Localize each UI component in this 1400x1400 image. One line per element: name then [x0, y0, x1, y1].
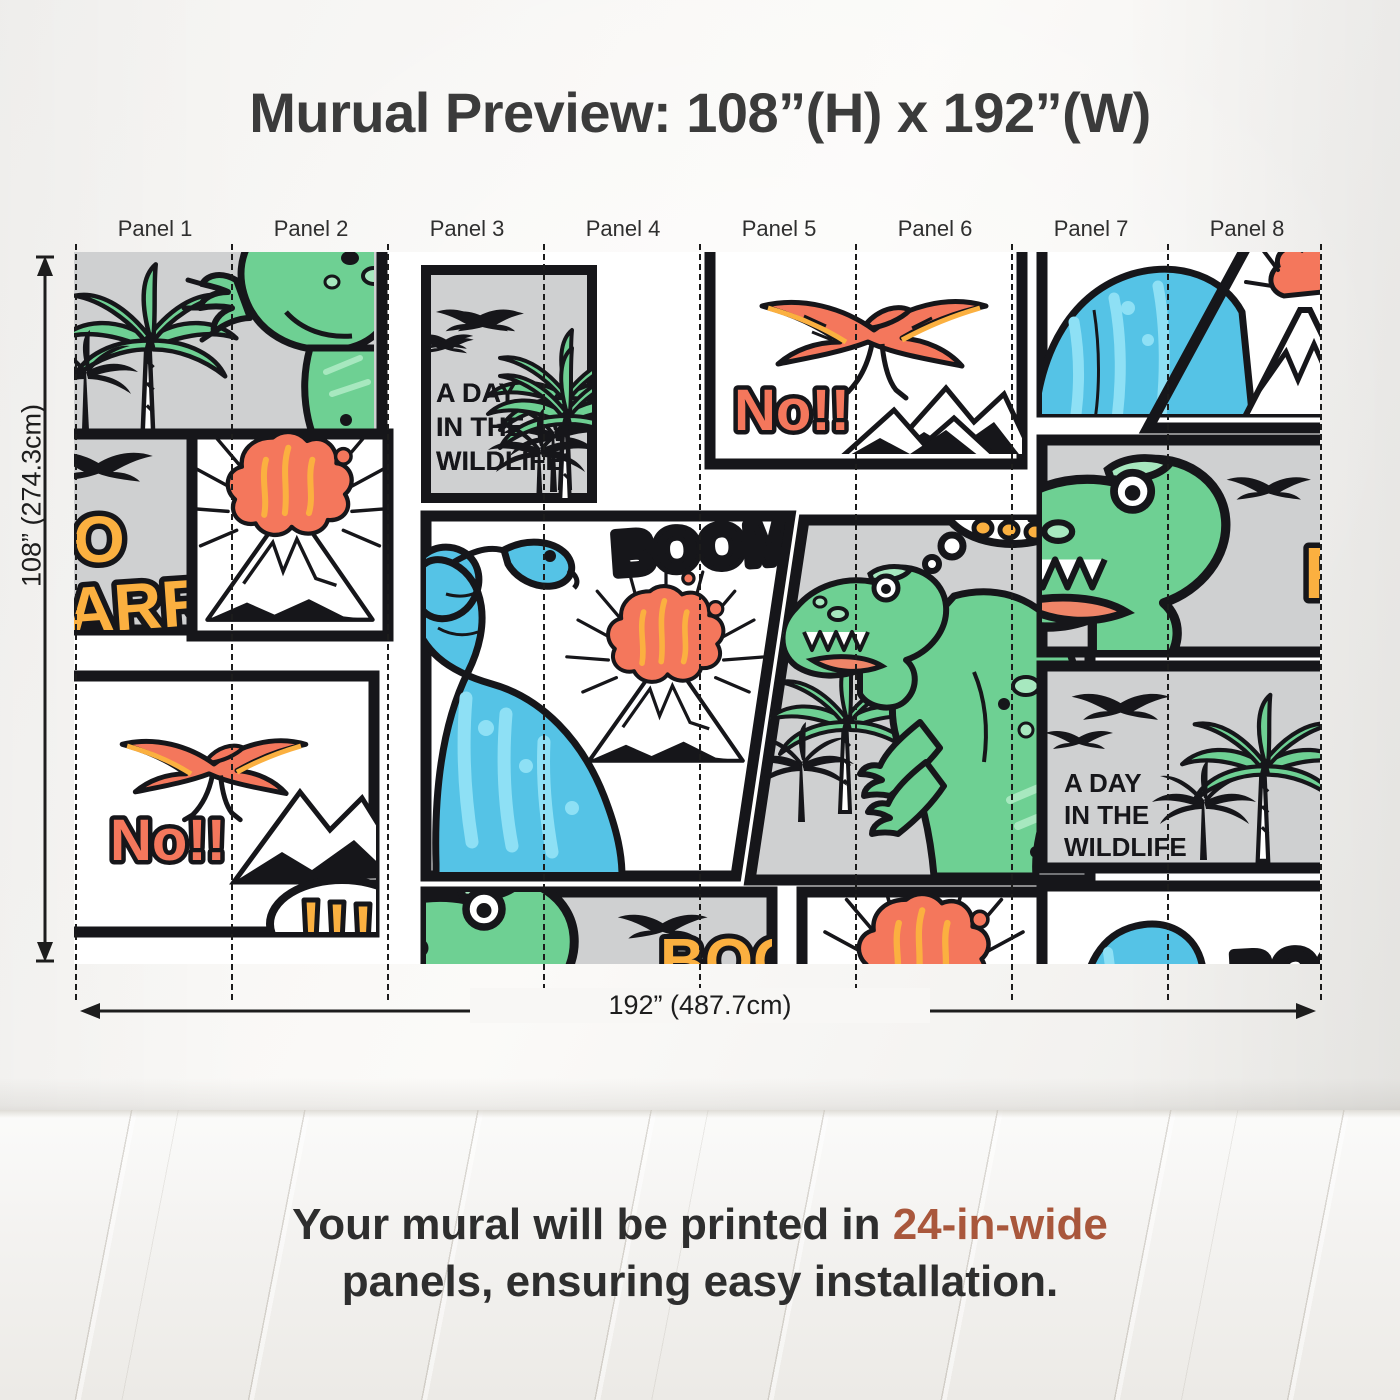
- panel-label-4: Panel 4: [543, 216, 703, 242]
- panel-label-8: Panel 8: [1167, 216, 1327, 242]
- panel-divider-4: [699, 244, 701, 1000]
- floor-top-edge: [0, 1110, 1400, 1118]
- mural-preview-artwork: A DAY IN THE WILDLIFE A DAY IN THE WILDL…: [74, 252, 1320, 964]
- svg-text:A DAY: A DAY: [1064, 768, 1142, 798]
- svg-text:R: R: [1304, 534, 1320, 614]
- svg-text:IN THE: IN THE: [436, 412, 525, 442]
- svg-text:OO: OO: [74, 502, 125, 576]
- svg-text:IN THE: IN THE: [1064, 800, 1149, 830]
- svg-text:No!!: No!!: [110, 808, 226, 873]
- panel-label-6: Panel 6: [855, 216, 1015, 242]
- panel-label-2: Panel 2: [231, 216, 391, 242]
- caption-line-1: Your mural will be printed in 24-in-wide: [0, 1196, 1400, 1253]
- installation-caption: Your mural will be printed in 24-in-wide…: [0, 1196, 1400, 1310]
- panel-label-7: Panel 7: [1011, 216, 1171, 242]
- panel-divider-2: [387, 244, 389, 1000]
- panel-divider-5: [855, 244, 857, 1000]
- panel-divider-edge-right: [1320, 244, 1322, 1000]
- panel-divider-3: [543, 244, 545, 1000]
- panel-divider-edge-left: [75, 244, 77, 1000]
- panel-divider-1: [231, 244, 233, 1000]
- caption-line-2: panels, ensuring easy installation.: [0, 1253, 1400, 1310]
- width-dimension-label: 192” (487.7cm): [470, 988, 930, 1023]
- panel-divider-6: [1011, 244, 1013, 1000]
- caption-prefix: Your mural will be printed in: [292, 1200, 893, 1249]
- caption-highlight: 24-in-wide: [893, 1200, 1108, 1249]
- height-dimension-label: 108” (274.3cm): [17, 366, 48, 626]
- svg-text:No!!: No!!: [734, 378, 850, 443]
- panel-label-1: Panel 1: [75, 216, 235, 242]
- panel-label-3: Panel 3: [387, 216, 547, 242]
- svg-text:A DAY: A DAY: [436, 378, 517, 408]
- panel-label-5: Panel 5: [699, 216, 859, 242]
- page-title: Murual Preview: 108”(H) x 192”(W): [0, 80, 1400, 145]
- panel-divider-7: [1167, 244, 1169, 1000]
